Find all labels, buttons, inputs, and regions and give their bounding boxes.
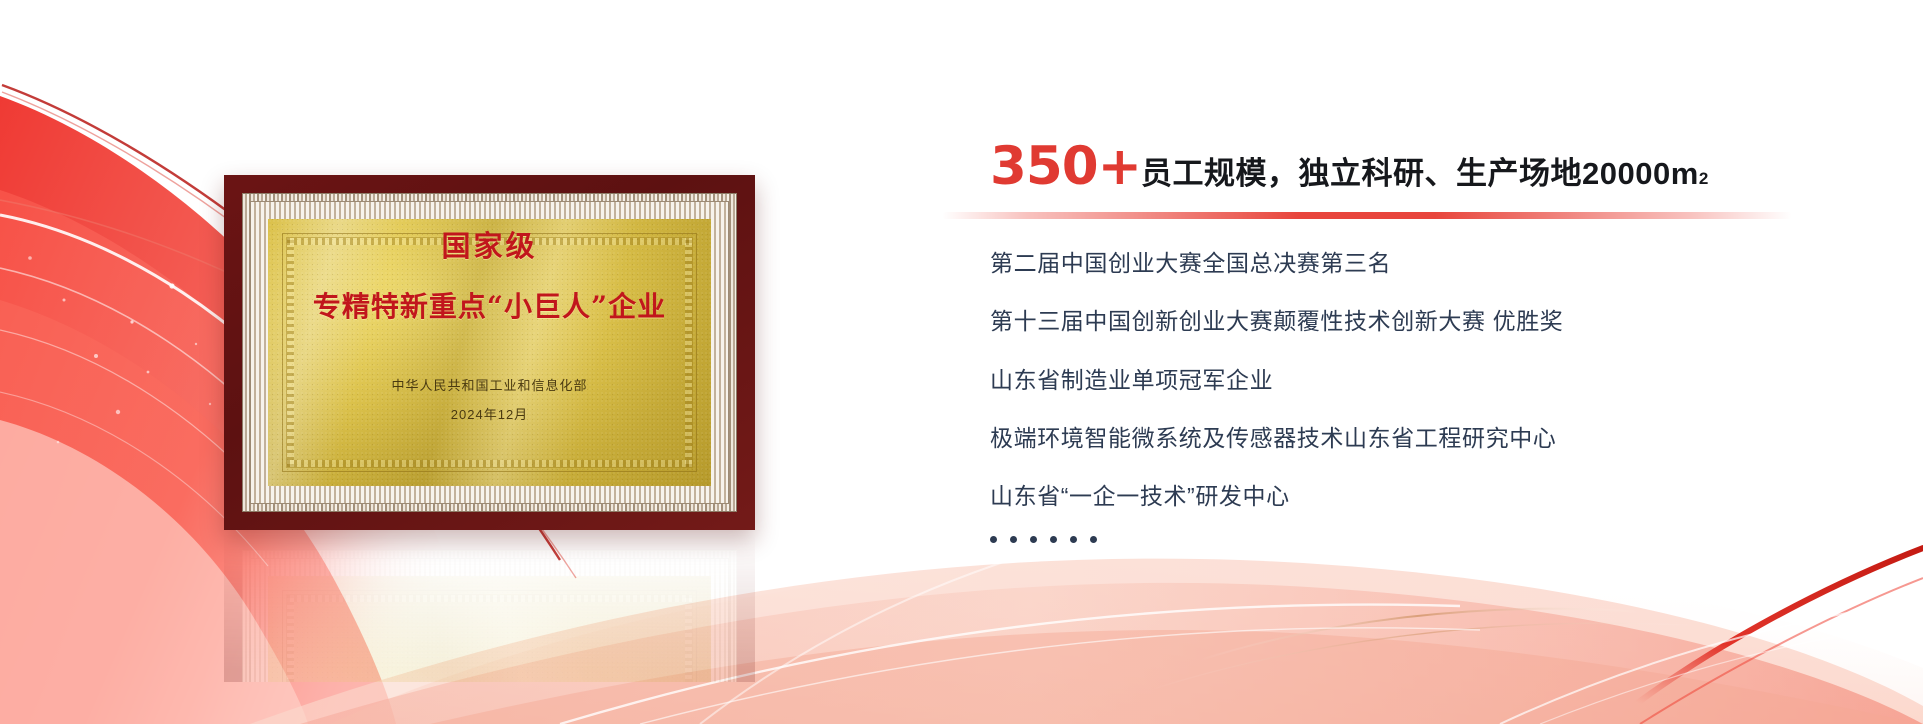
- honor-item: 山东省“一企一技术”研发中心: [990, 484, 1870, 509]
- headline-number: 350+: [990, 140, 1141, 193]
- ellipsis-dot: [1090, 536, 1097, 543]
- honor-item: 极端环境智能微系统及传感器技术山东省工程研究中心: [990, 426, 1870, 451]
- ellipsis-dots: [990, 536, 1870, 543]
- banner-stage: 国家级 专精特新重点“小巨人”企业 中华人民共和国工业和信息化部 2024年12…: [0, 0, 1923, 724]
- plaque-text-block: 国家级 专精特新重点“小巨人”企业 中华人民共和国工业和信息化部 2024年12…: [224, 175, 755, 530]
- headline-superscript: 2: [1699, 169, 1708, 189]
- plaque-date: 2024年12月: [451, 404, 528, 423]
- honors-list: 第二届中国创业大赛全国总决赛第三名 第十三届中国创新创业大赛颠覆性技术创新大赛 …: [990, 251, 1870, 509]
- honor-item: 第十三届中国创新创业大赛颠覆性技术创新大赛 优胜奖: [990, 309, 1870, 334]
- plaque-issuer: 中华人民共和国工业和信息化部: [391, 375, 587, 394]
- award-plaque: 国家级 专精特新重点“小巨人”企业 中华人民共和国工业和信息化部 2024年12…: [224, 175, 755, 530]
- headline-text: 员工规模，独立科研、生产场地20000m: [1141, 158, 1699, 189]
- honor-item: 山东省制造业单项冠军企业: [990, 368, 1870, 393]
- ellipsis-dot: [1070, 536, 1077, 543]
- headline: 350+ 员工规模，独立科研、生产场地20000m 2: [990, 140, 1870, 193]
- plaque-subtitle: 专精特新重点“小巨人”企业: [313, 285, 666, 325]
- plaque-frame: 国家级 专精特新重点“小巨人”企业 中华人民共和国工业和信息化部 2024年12…: [224, 175, 755, 530]
- honor-item: 第二届中国创业大赛全国总决赛第三名: [990, 251, 1870, 276]
- ellipsis-dot: [990, 536, 997, 543]
- ellipsis-dot: [1030, 536, 1037, 543]
- plaque-title: 国家级: [441, 223, 537, 265]
- headline-underline-rule: [942, 212, 1792, 219]
- ellipsis-dot: [1050, 536, 1057, 543]
- ellipsis-dot: [1010, 536, 1017, 543]
- content-column: 350+ 员工规模，独立科研、生产场地20000m 2 第二届中国创业大赛全国总…: [990, 140, 1870, 543]
- plaque-reflection: [224, 532, 755, 682]
